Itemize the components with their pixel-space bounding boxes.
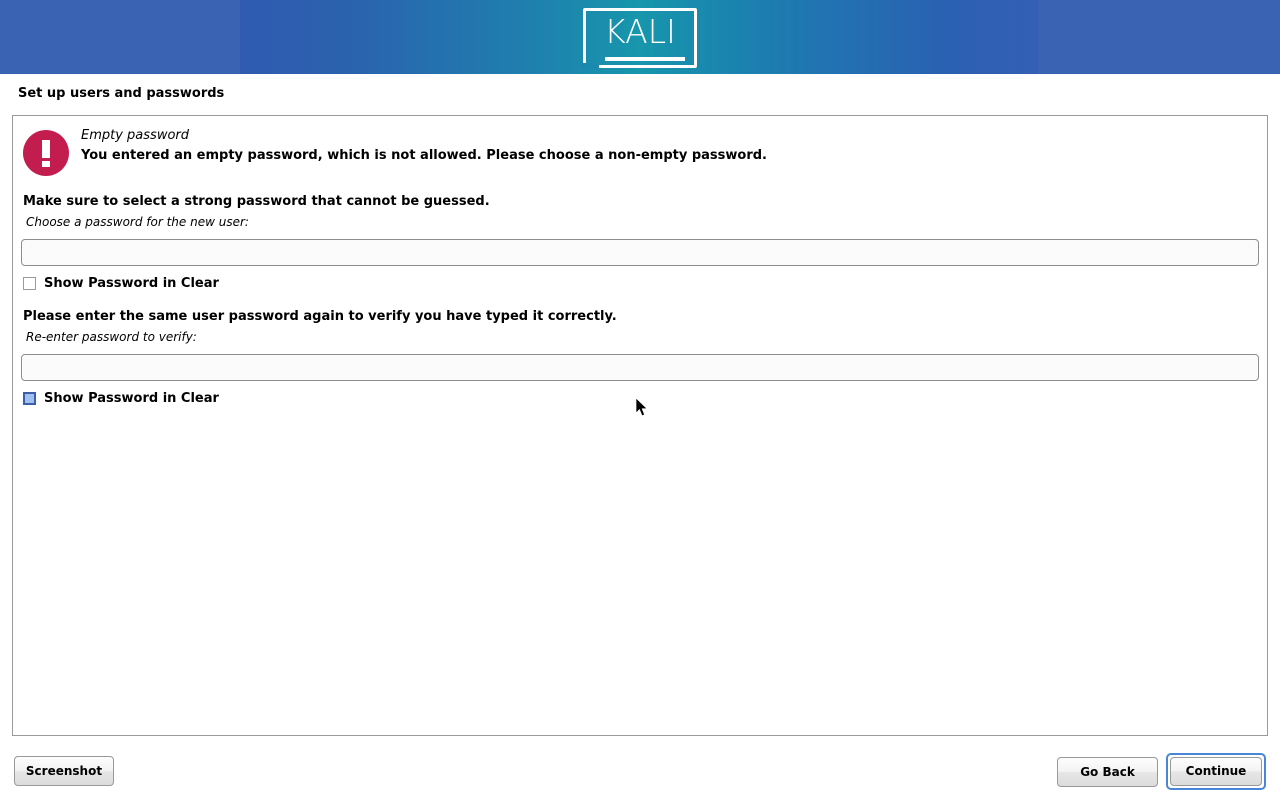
verify-password-note: Please enter the same user password agai… — [23, 309, 617, 324]
exclamation-dot — [42, 161, 50, 167]
verify-field-label: Re-enter password to verify: — [26, 330, 197, 344]
strong-password-note: Make sure to select a strong password th… — [23, 194, 490, 209]
error-exclamation-icon — [23, 130, 69, 176]
show-password-checkbox-1[interactable] — [23, 277, 36, 290]
error-title: Empty password — [81, 128, 189, 143]
screenshot-button[interactable]: Screenshot — [14, 756, 114, 786]
kali-logo-underbar — [605, 57, 685, 61]
kali-logo: KALI — [583, 8, 697, 68]
error-banner: Empty password You entered an empty pass… — [13, 116, 1267, 192]
show-password-label-1: Show Password in Clear — [44, 276, 219, 291]
password-input[interactable] — [21, 239, 1259, 266]
show-password-checkbox-2[interactable] — [23, 392, 36, 405]
kali-logo-frame-gap — [582, 63, 599, 69]
main-content-panel: Empty password You entered an empty pass… — [12, 115, 1268, 736]
go-back-button[interactable]: Go Back — [1057, 757, 1158, 787]
verify-password-input[interactable] — [21, 354, 1259, 381]
show-password-checkbox-row-1[interactable]: Show Password in Clear — [23, 276, 219, 294]
password-field-label: Choose a password for the new user: — [26, 215, 249, 229]
show-password-label-2: Show Password in Clear — [44, 391, 219, 406]
error-message: You entered an empty password, which is … — [81, 148, 767, 163]
exclamation-stem — [42, 140, 50, 158]
show-password-checkbox-row-2[interactable]: Show Password in Clear — [23, 391, 219, 409]
page-title: Set up users and passwords — [18, 86, 224, 101]
continue-button[interactable]: Continue — [1170, 757, 1262, 786]
installer-header-banner: KALI — [0, 0, 1280, 74]
kali-logo-text: KALI — [583, 8, 697, 55]
continue-button-focus-ring: Continue — [1166, 753, 1266, 790]
